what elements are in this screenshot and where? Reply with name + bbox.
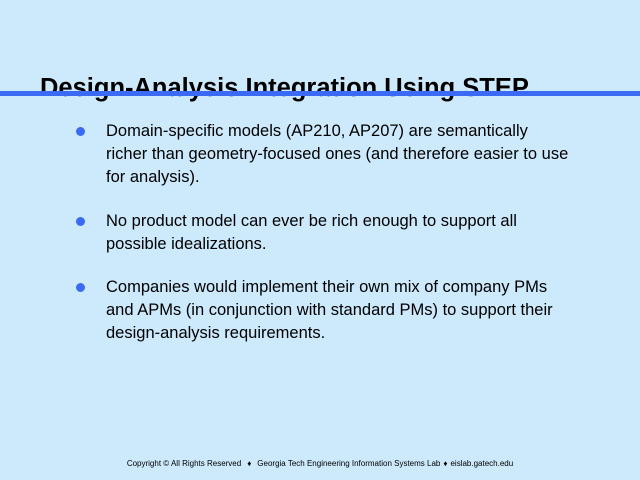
footer-organization: Georgia Tech Engineering Information Sys… bbox=[257, 459, 440, 468]
slide-canvas: Design-Analysis Integration Using STEP D… bbox=[0, 0, 640, 480]
page-title: Design-Analysis Integration Using STEP bbox=[40, 73, 600, 103]
title-divider bbox=[0, 91, 640, 96]
list-item: Domain-specific models (AP210, AP207) ar… bbox=[72, 120, 572, 190]
footer-website: eislab.gatech.edu bbox=[450, 459, 513, 468]
list-item-text: No product model can ever be rich enough… bbox=[106, 210, 572, 256]
diamond-separator-icon: ♦ bbox=[440, 459, 450, 468]
list-item-text: Companies would implement their own mix … bbox=[106, 276, 572, 346]
slide-footer: Copyright © All Rights Reserved♦Georgia … bbox=[0, 458, 640, 470]
bullet-dot-icon bbox=[76, 127, 85, 136]
list-item: Companies would implement their own mix … bbox=[72, 276, 572, 346]
list-item-text: Domain-specific models (AP210, AP207) ar… bbox=[106, 120, 572, 190]
bullet-list: Domain-specific models (AP210, AP207) ar… bbox=[72, 120, 572, 346]
footer-copyright: Copyright © All Rights Reserved bbox=[127, 459, 241, 468]
list-item: No product model can ever be rich enough… bbox=[72, 210, 572, 256]
bullet-dot-icon bbox=[76, 283, 85, 292]
bullet-dot-icon bbox=[76, 217, 85, 226]
diamond-separator-icon: ♦ bbox=[241, 459, 257, 468]
